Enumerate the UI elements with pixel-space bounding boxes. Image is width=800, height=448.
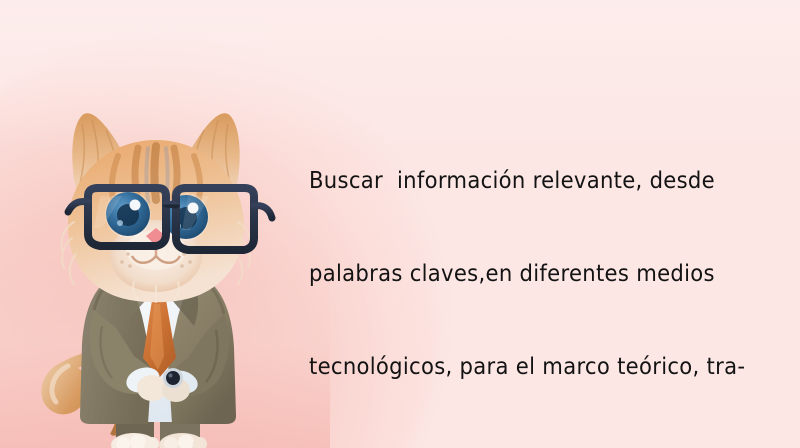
text-line-2: palabras claves,en diferentes medios — [309, 258, 769, 289]
slide-text-block: Buscar información relevante, desde pala… — [309, 103, 769, 448]
cat-head — [62, 113, 273, 302]
text-line-1: Buscar información relevante, desde — [309, 165, 769, 196]
text-line-3: tecnológicos, para el marco teórico, tra… — [309, 351, 769, 382]
cat-jacket-button — [163, 368, 183, 388]
slide-canvas: Buscar información relevante, desde pala… — [0, 0, 800, 448]
kitten-illustration — [30, 104, 280, 448]
text-line-4: bajando de manera sistemática y colab- — [309, 444, 769, 448]
